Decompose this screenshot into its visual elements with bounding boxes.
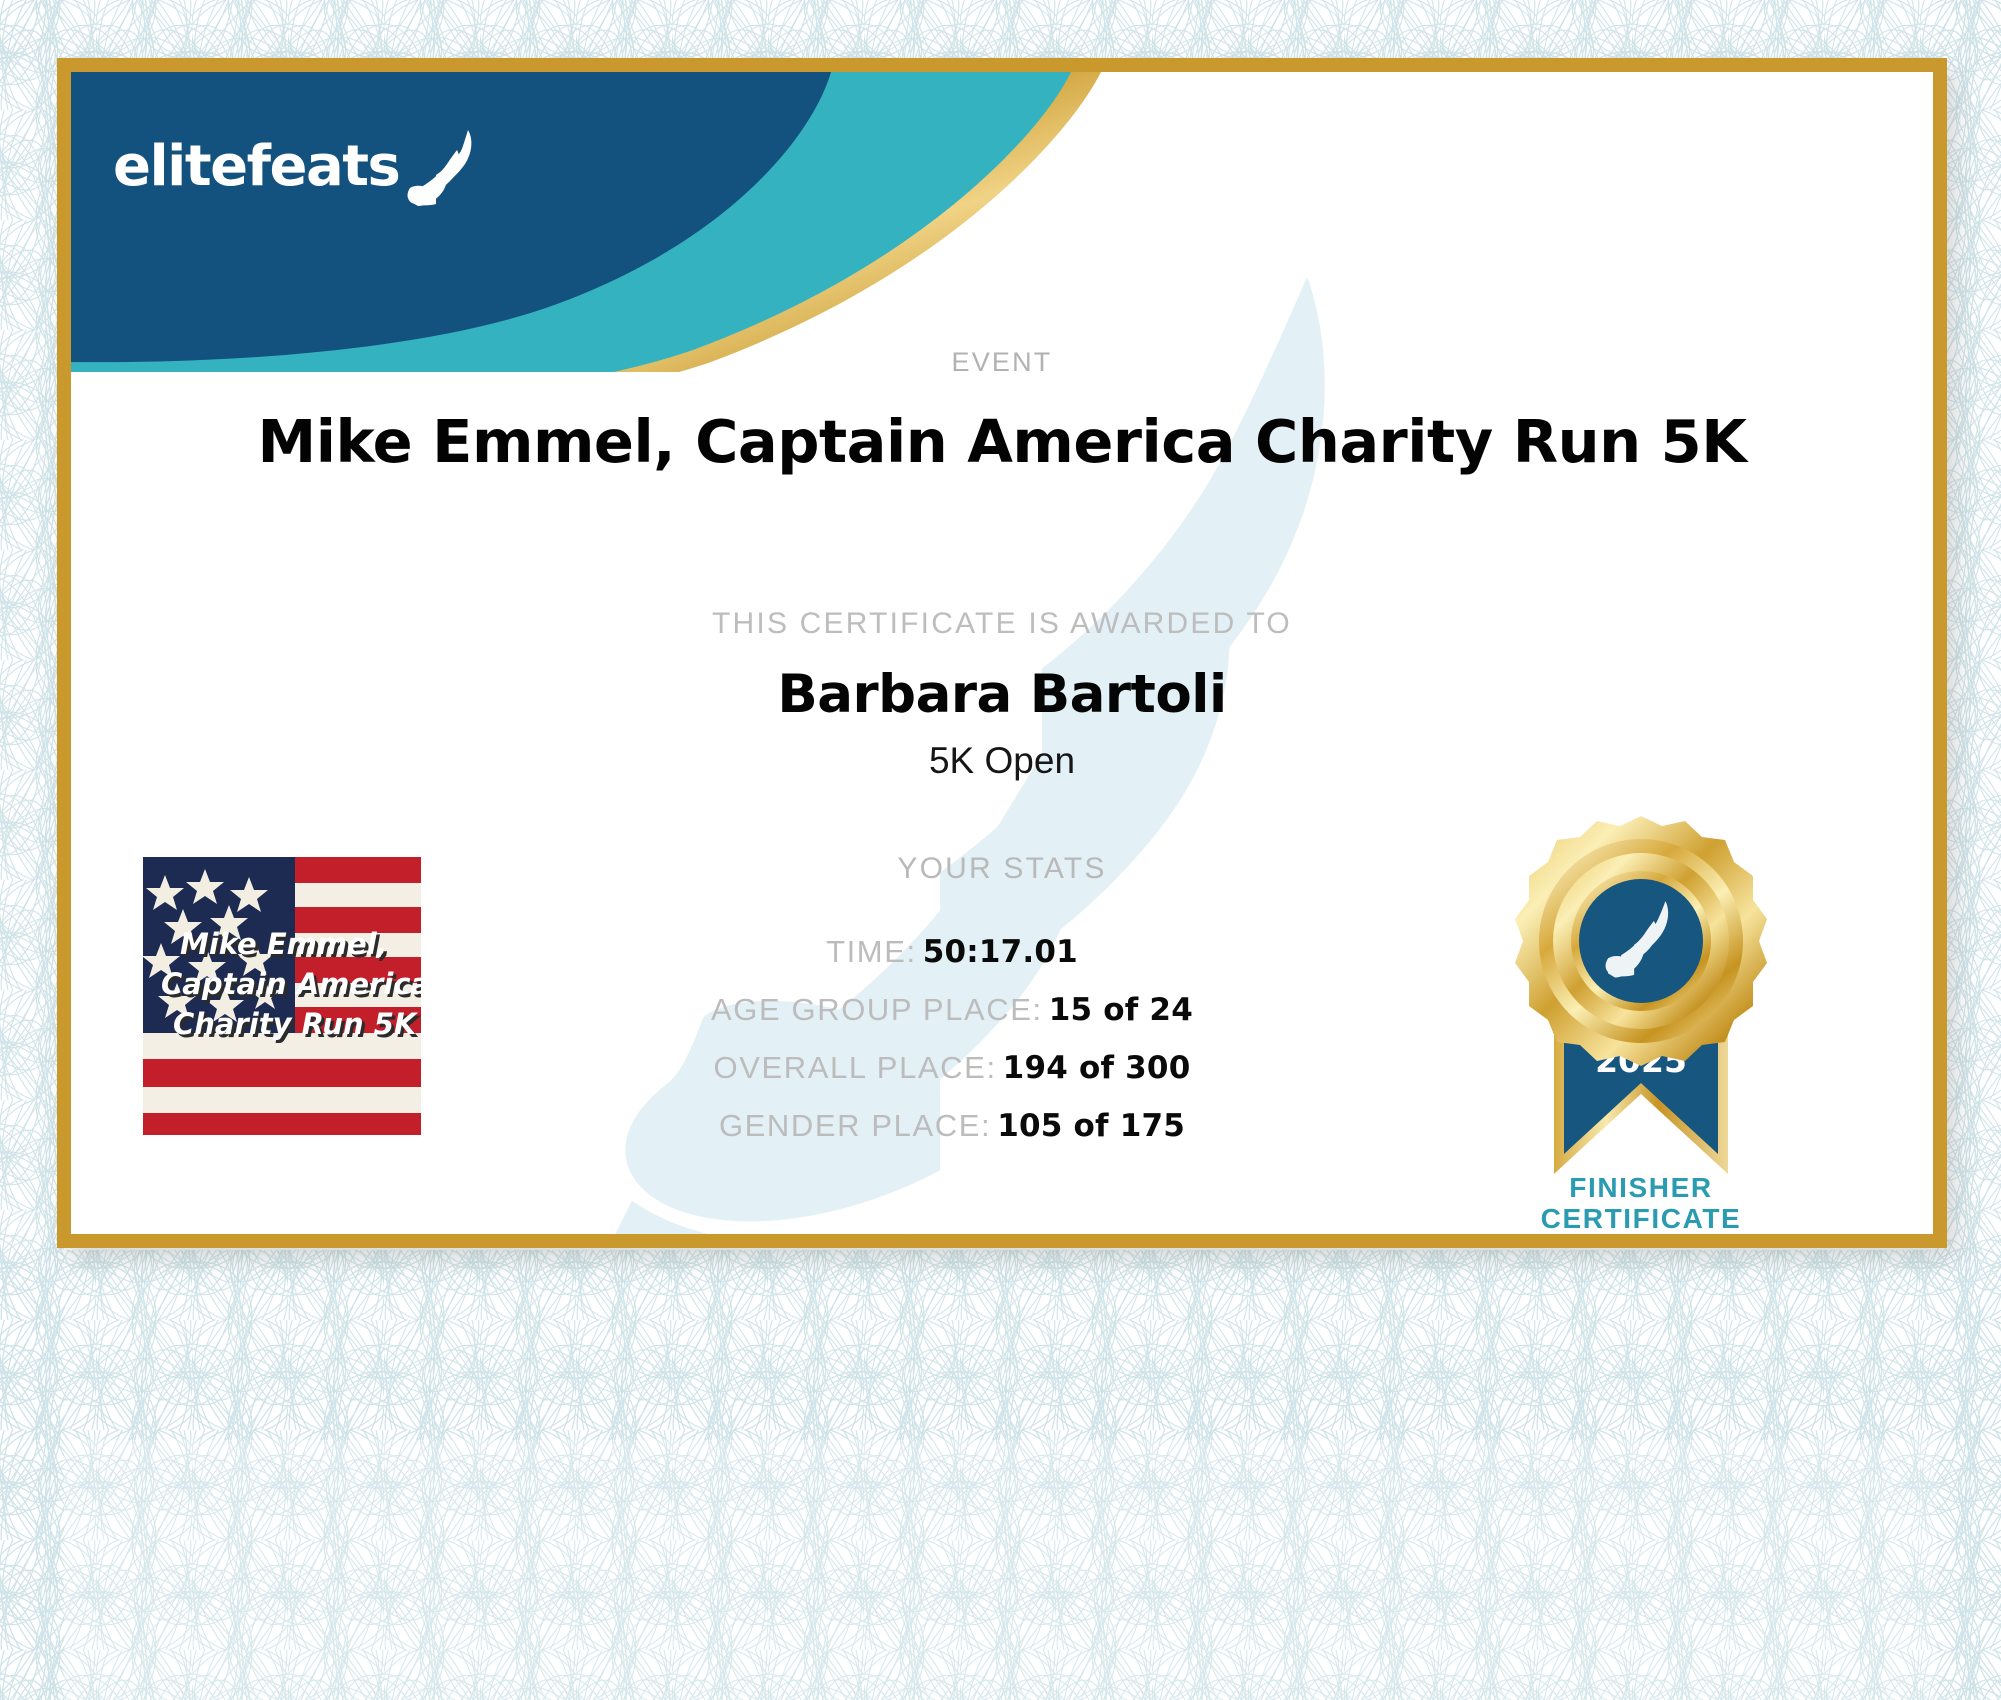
event-label: EVENT — [71, 347, 1933, 378]
stat-key: GENDER PLACE: — [719, 1108, 991, 1143]
winged-foot-icon — [405, 128, 485, 206]
flag-text-line1: Mike Emmel, — [180, 927, 388, 961]
stat-value: 50:17.01 — [923, 934, 1078, 970]
brand-logo: elitefeats — [113, 128, 485, 206]
finisher-caption-line2: CERTIFICATE — [1471, 1203, 1811, 1234]
flag-text-line2: Captain America — [161, 967, 421, 1001]
finisher-caption-line1: FINISHER — [1471, 1172, 1811, 1203]
certificate-card: elitefeats EVENT Mike Emmel, Captain Ame… — [57, 58, 1947, 1248]
flag-text-line3: Charity Run 5K — [173, 1007, 419, 1041]
event-title: Mike Emmel, Captain America Charity Run … — [71, 407, 1933, 476]
recipient-division: 5K Open — [71, 740, 1933, 782]
stat-key: AGE GROUP PLACE: — [711, 992, 1043, 1027]
recipient-name: Barbara Bartoli — [71, 664, 1933, 725]
finisher-medal: 2025 — [1476, 802, 1806, 1222]
stat-value: 194 of 300 — [1003, 1050, 1191, 1086]
stat-key: TIME: — [826, 934, 917, 969]
finisher-certificate-caption: FINISHER CERTIFICATE — [1471, 1172, 1811, 1235]
stat-value: 15 of 24 — [1049, 992, 1193, 1028]
awarded-to-label: THIS CERTIFICATE IS AWARDED TO — [71, 607, 1933, 641]
stat-key: OVERALL PLACE: — [714, 1050, 997, 1085]
event-logo-flag: Mike Emmel, Mike Emmel, Captain America … — [143, 857, 421, 1135]
stat-value: 105 of 175 — [997, 1108, 1185, 1144]
brand-wordmark: elitefeats — [113, 139, 399, 195]
